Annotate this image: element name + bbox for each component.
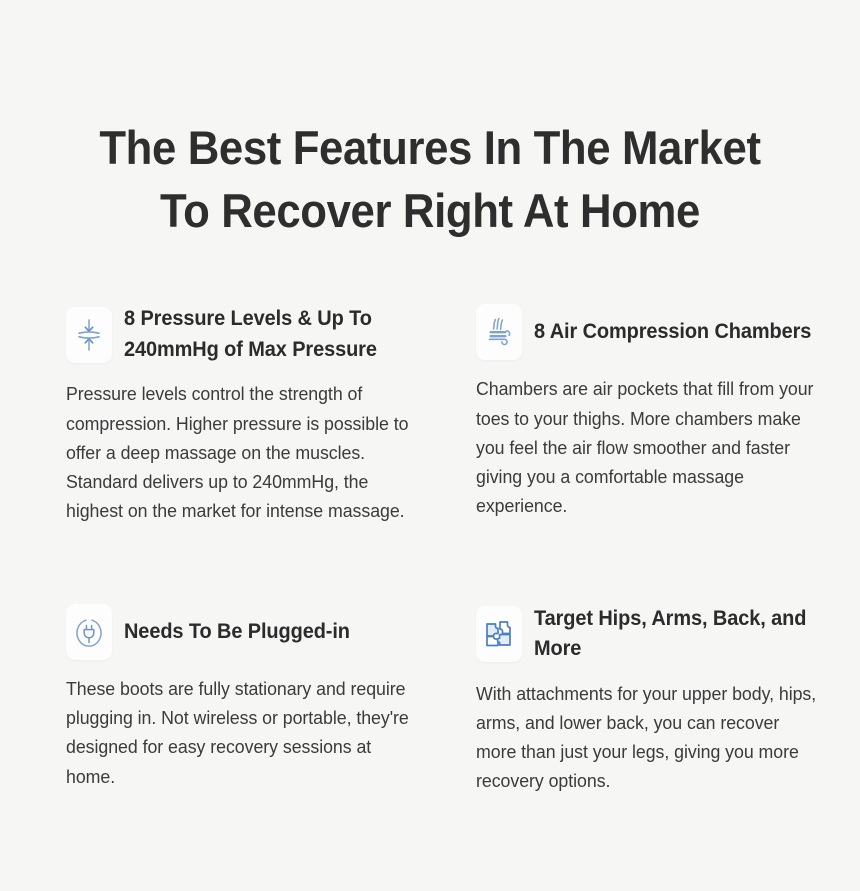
feature-title: Needs To Be Plugged-in (124, 617, 350, 647)
page-title-line-2: To Recover Right At Home (30, 180, 830, 243)
power-plug-icon (66, 604, 112, 660)
feature-grid: 8 Pressure Levels & Up To 240mmHg of Max… (0, 304, 860, 814)
feature-description: With attachments for your upper body, hi… (476, 679, 820, 796)
feature-section-page: The Best Features In The Market To Recov… (0, 31, 860, 891)
feature-header: 8 Pressure Levels & Up To 240mmHg of Max… (66, 304, 441, 365)
feature-card-target-areas: Target Hips, Arms, Back, and More With a… (476, 604, 851, 814)
feature-card-air-chambers: 8 Air Compression Chambers Chambers are … (476, 304, 851, 543)
feature-description: Pressure levels control the strength of … (66, 379, 410, 525)
feature-header: 8 Air Compression Chambers (476, 304, 851, 360)
feature-header: Needs To Be Plugged-in (66, 604, 441, 660)
feature-description: These boots are fully stationary and req… (66, 674, 410, 791)
feature-header: Target Hips, Arms, Back, and More (476, 604, 851, 665)
air-flow-icon (476, 304, 522, 360)
compression-arrows-icon (66, 307, 112, 363)
feature-card-pressure-levels: 8 Pressure Levels & Up To 240mmHg of Max… (66, 304, 441, 543)
feature-description: Chambers are air pockets that fill from … (476, 374, 820, 520)
page-title: The Best Features In The Market To Recov… (30, 31, 830, 242)
feature-title: 8 Pressure Levels & Up To 240mmHg of Max… (124, 304, 425, 365)
feature-card-plugged-in: Needs To Be Plugged-in These boots are f… (66, 604, 441, 814)
feature-title: Target Hips, Arms, Back, and More (534, 604, 835, 665)
page-title-line-1: The Best Features In The Market (30, 117, 830, 180)
puzzle-pieces-icon (476, 606, 522, 662)
feature-title: 8 Air Compression Chambers (534, 317, 811, 347)
